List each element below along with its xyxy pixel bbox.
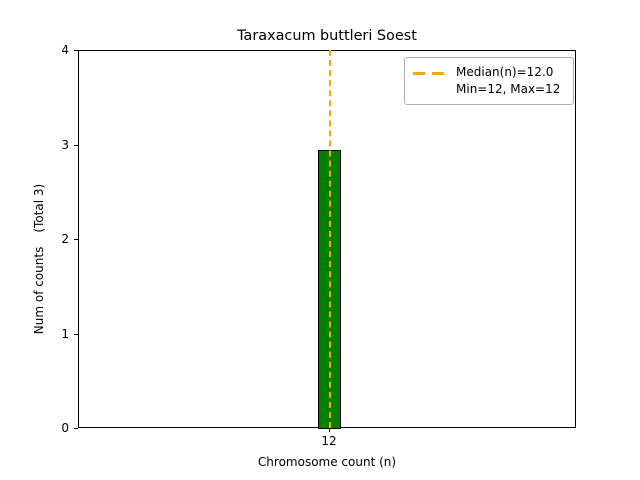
ytick-mark-0 (74, 428, 78, 429)
legend-dash-segment-2 (432, 72, 444, 75)
figure-canvas: Taraxacum buttleri Soest 0 1 2 3 4 Num o… (0, 0, 640, 480)
legend-text-block: Median(n)=12.0 Min=12, Max=12 (456, 64, 560, 97)
legend-dash-segment-1 (413, 72, 425, 75)
median-line (329, 50, 331, 428)
chart-title: Taraxacum buttleri Soest (78, 28, 576, 45)
x-axis-label: Chromosome count (n) (78, 455, 576, 469)
y-axis-label-total: (Total 3) (32, 184, 46, 233)
legend: Median(n)=12.0 Min=12, Max=12 (404, 57, 574, 105)
xtick-mark-12 (329, 428, 330, 432)
y-axis-label-main: Num of counts (32, 247, 46, 335)
y-axis-label: Num of counts (Total 3) (19, 70, 59, 448)
legend-median-line-sample (413, 65, 447, 82)
ytick-label-4: 4 (39, 44, 69, 56)
legend-label-minmax: Min=12, Max=12 (456, 81, 560, 97)
legend-label-median: Median(n)=12.0 (456, 64, 560, 80)
xtick-label-12: 12 (309, 435, 349, 447)
